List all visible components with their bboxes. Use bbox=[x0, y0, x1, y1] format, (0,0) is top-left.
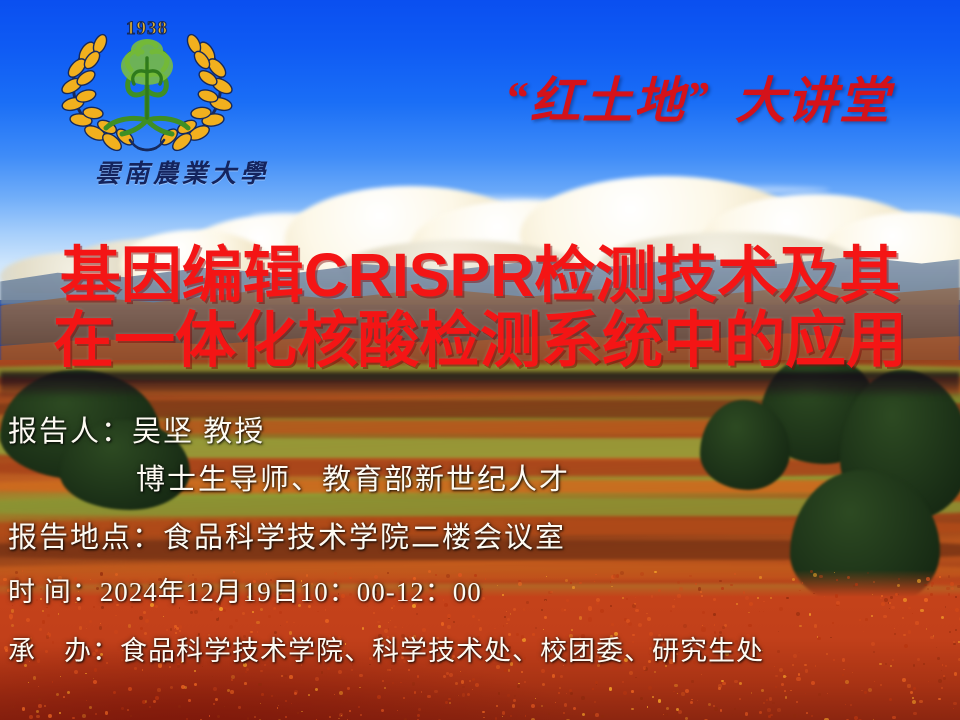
page-title: 基因编辑CRISPR检测技术及其 在一体化核酸检测系统中的应用 bbox=[0, 243, 960, 374]
location-line: 报告地点：食品科学技术学院二楼会议室 bbox=[8, 514, 952, 556]
lecture-poster: 1938 bbox=[0, 0, 960, 720]
banner-highlight-text: 红土地 bbox=[530, 61, 686, 133]
series-banner: “红土地”大讲堂 bbox=[505, 52, 955, 142]
speaker-titles-line: 博士生导师、教育部新世纪人才 bbox=[8, 456, 952, 498]
university-name-label: 雲南農業大學 bbox=[92, 154, 272, 190]
title-line-2: 在一体化核酸检测系统中的应用 bbox=[0, 308, 960, 373]
terrace-shadow-band bbox=[0, 372, 960, 398]
banner-suffix-text: 大讲堂 bbox=[735, 61, 891, 133]
logo-year-label: 1938 bbox=[52, 18, 242, 40]
hosts-line: 承 办：食品科学技术学院、科学技术处、校团委、研究生处 bbox=[8, 629, 952, 668]
university-logo: 1938 bbox=[52, 8, 242, 158]
banner-close-quote: ” bbox=[686, 71, 711, 124]
time-line: 时 间：2024年12月19日10：00-12：00 bbox=[8, 570, 952, 609]
event-details: 报告人：吴坚 教授 博士生导师、教育部新世纪人才 报告地点：食品科学技术学院二楼… bbox=[8, 408, 952, 674]
speaker-line: 报告人：吴坚 教授 bbox=[8, 408, 952, 450]
banner-open-quote: “ bbox=[505, 71, 530, 124]
title-line-1: 基因编辑CRISPR检测技术及其 bbox=[0, 243, 960, 308]
